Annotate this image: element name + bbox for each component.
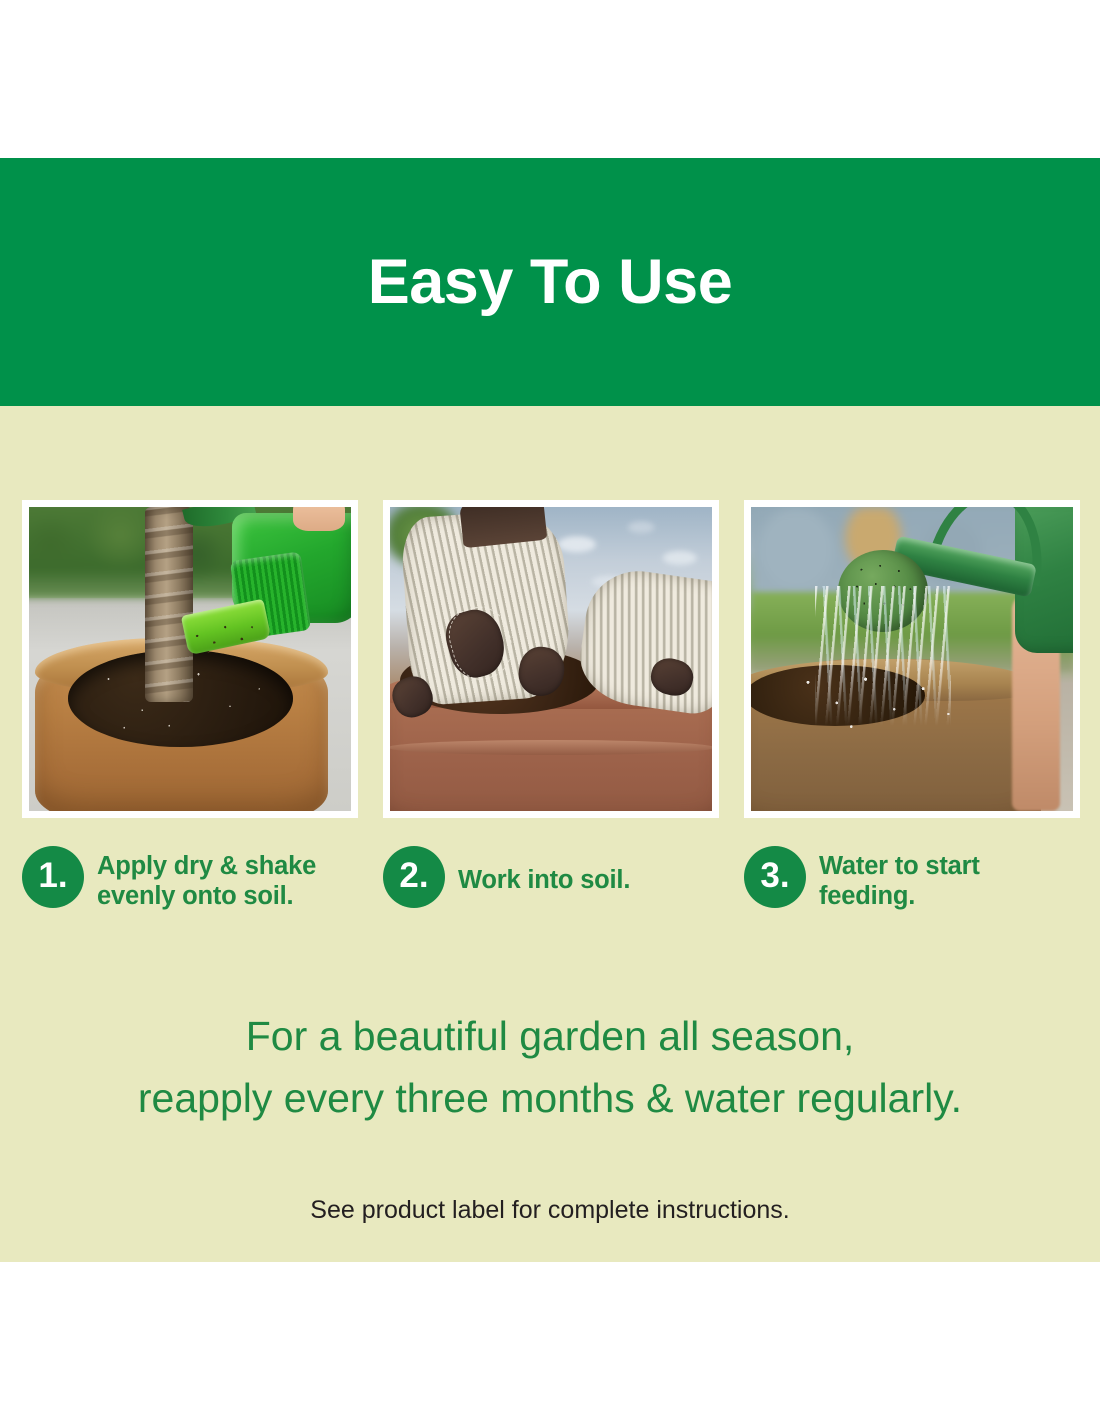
page-title: Easy To Use <box>368 251 733 314</box>
bottom-white-strip <box>0 1262 1100 1422</box>
tagline-line-2: reapply every three months & water regul… <box>0 1068 1100 1130</box>
step-3-label: Water to start feeding. <box>819 846 1080 911</box>
step-2-number-badge: 2. <box>383 846 445 908</box>
step-photo-row <box>22 500 1080 818</box>
tagline: For a beautiful garden all season, reapp… <box>0 1006 1100 1129</box>
easy-to-use-panel: Easy To Use <box>0 0 1100 1422</box>
step-1-photo <box>29 507 351 811</box>
step-2-label: Work into soil. <box>458 846 630 896</box>
step-caption-row: 1. Apply dry & shake evenly onto soil. 2… <box>22 846 1080 964</box>
photo1-palm-trunk <box>145 507 193 702</box>
step-3-number-badge: 3. <box>744 846 806 908</box>
step-3: 3. Water to start feeding. <box>744 846 1080 964</box>
step-1-label: Apply dry & shake evenly onto soil. <box>97 846 358 911</box>
step-1: 1. Apply dry & shake evenly onto soil. <box>22 846 358 964</box>
step-3-photo <box>751 507 1073 811</box>
body-section: 1. Apply dry & shake evenly onto soil. 2… <box>0 406 1100 1262</box>
step-1-number-badge: 1. <box>22 846 84 908</box>
step-1-photo-frame <box>22 500 358 818</box>
header-band: Easy To Use <box>0 158 1100 406</box>
step-2: 2. Work into soil. <box>383 846 719 964</box>
tagline-line-1: For a beautiful garden all season, <box>0 1006 1100 1068</box>
photo2-pot-band <box>390 740 712 755</box>
step-2-photo-frame <box>383 500 719 818</box>
footer-note: See product label for complete instructi… <box>0 1196 1100 1225</box>
photo1-hand <box>293 507 345 531</box>
step-3-photo-frame <box>744 500 1080 818</box>
photo3-water-droplets <box>790 665 970 744</box>
top-white-strip <box>0 0 1100 158</box>
step-2-photo <box>390 507 712 811</box>
